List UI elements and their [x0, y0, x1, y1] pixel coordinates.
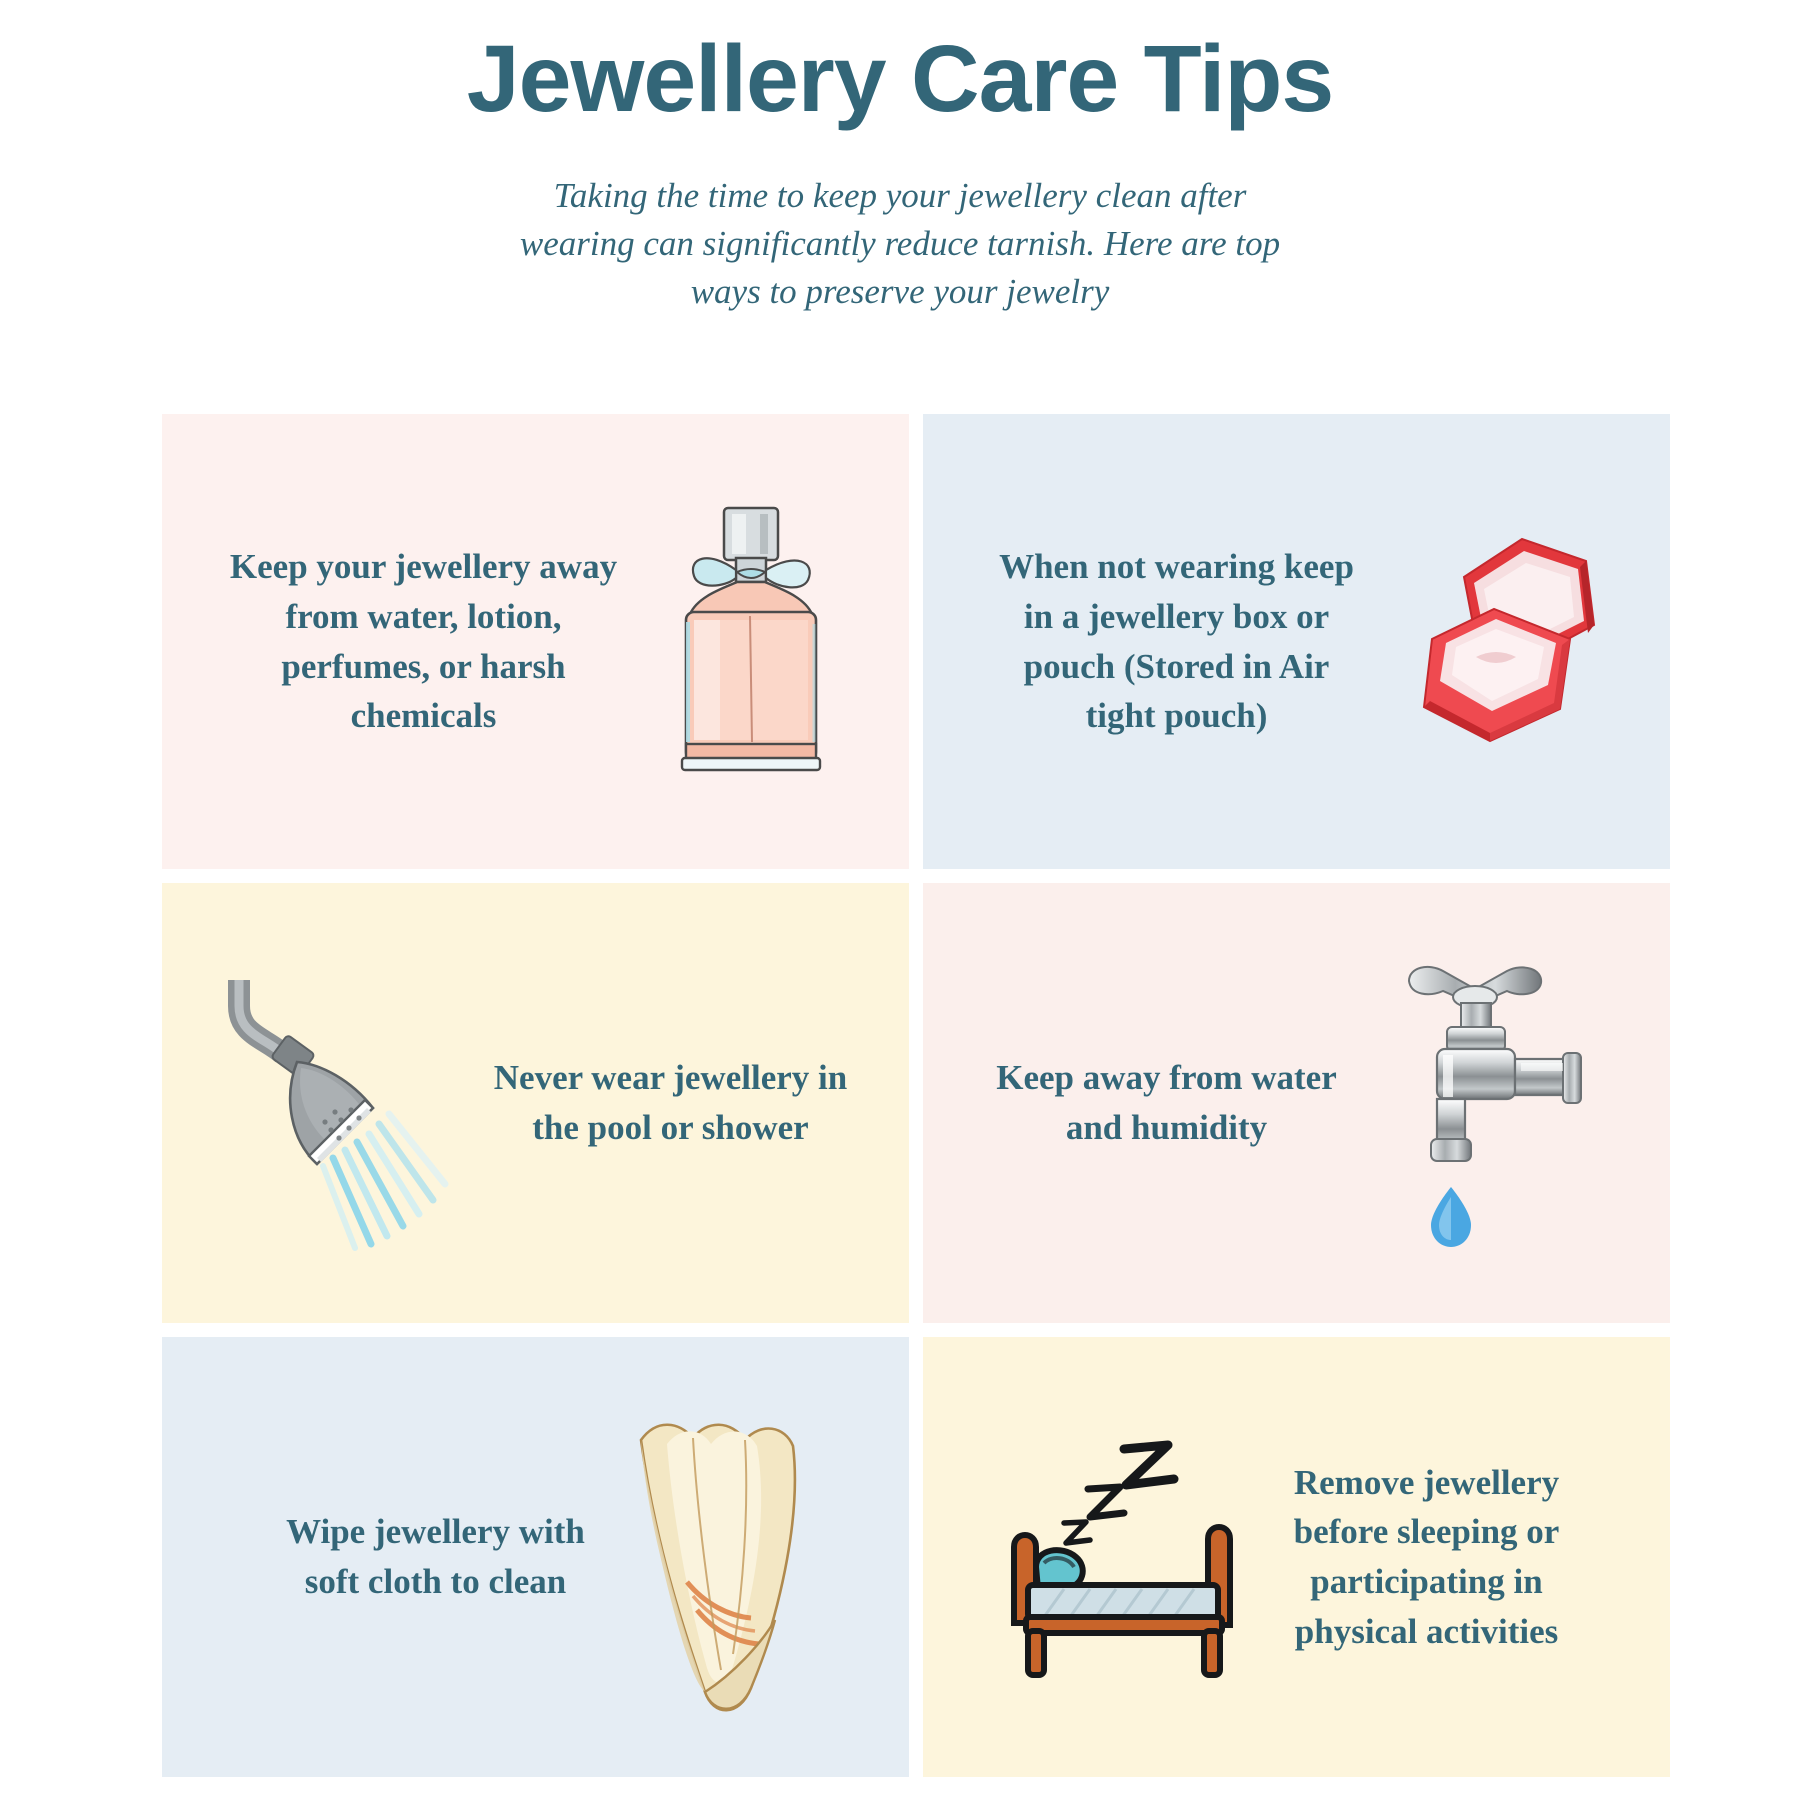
faucet-icon [1347, 943, 1607, 1263]
tip-card-humidity[interactable]: Keep away from water and humidity [923, 883, 1670, 1323]
polishing-cloth-icon [601, 1392, 841, 1722]
tip-card-cloth[interactable]: Wipe jewellery with soft cloth to clean [162, 1337, 909, 1777]
shower-head-icon [211, 958, 481, 1248]
tip-card-text: When not wearing keep in a jewellery box… [962, 542, 1362, 741]
tip-card-sleeping[interactable]: Remove jewellery before sleeping or part… [923, 1337, 1670, 1777]
header: Jewellery Care Tips Taking the time to k… [0, 0, 1800, 317]
page-subtitle: Taking the time to keep your jewellery c… [500, 172, 1300, 317]
tip-card-chemicals[interactable]: Keep your jewellery away from water, lot… [162, 414, 909, 869]
bed-sleeping-icon [987, 1427, 1267, 1687]
tip-card-text: Wipe jewellery with soft cloth to clean [231, 1507, 601, 1606]
tip-card-shower[interactable]: Never wear jewellery in the pool or show… [162, 883, 909, 1323]
perfume-bottle-icon [621, 492, 881, 792]
tip-card-text: Remove jewellery before sleeping or part… [1267, 1458, 1607, 1657]
infographic-page: Jewellery Care Tips Taking the time to k… [0, 0, 1800, 1800]
tip-card-storage[interactable]: When not wearing keep in a jewellery box… [923, 414, 1670, 869]
tip-card-text: Keep away from water and humidity [987, 1053, 1347, 1152]
tip-card-text: Keep your jewellery away from water, lot… [191, 542, 621, 741]
tips-grid: Keep your jewellery away from water, lot… [162, 414, 1670, 1777]
page-title: Jewellery Care Tips [0, 30, 1800, 130]
tip-card-text: Never wear jewellery in the pool or show… [481, 1053, 861, 1152]
jewellery-box-icon [1362, 517, 1632, 767]
